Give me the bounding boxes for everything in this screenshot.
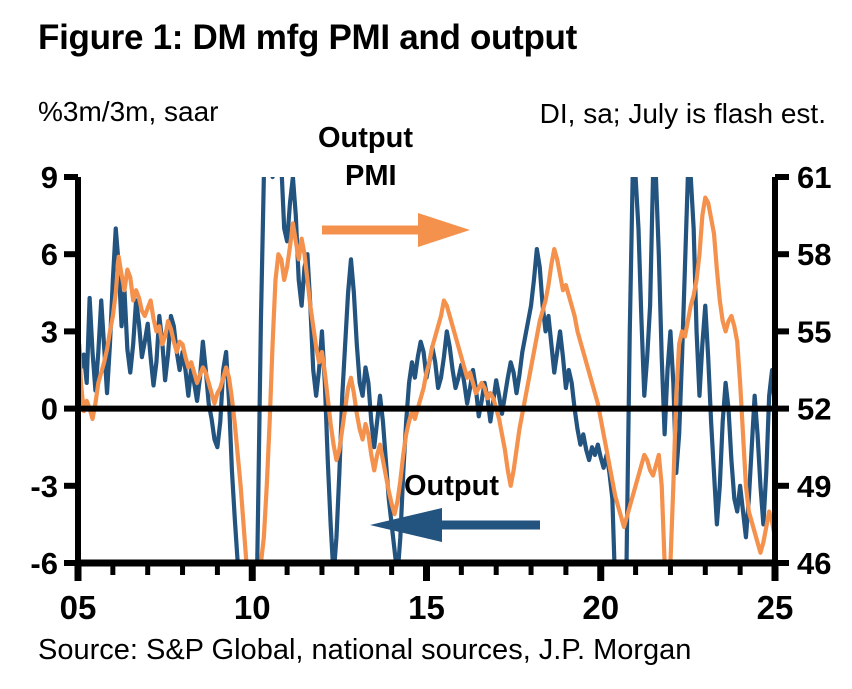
right-tick-label: 49	[797, 469, 831, 504]
left-tick-label: 9	[41, 160, 58, 195]
right-axis-unit-label: DI, sa; July is flash est.	[540, 98, 826, 130]
pmi-arrow-right	[322, 213, 470, 247]
output-annotation: Output	[404, 470, 499, 503]
right-tick-label: 52	[797, 392, 831, 427]
right-tick-label: 55	[797, 314, 831, 349]
x-tick-label: 05	[60, 589, 97, 626]
left-tick-label: 6	[41, 237, 58, 272]
left-axis-unit-label: %3m/3m, saar	[38, 96, 219, 128]
x-tick-label: 15	[408, 589, 445, 626]
right-tick-label: 58	[797, 237, 831, 272]
right-tick-label: 46	[797, 546, 831, 581]
left-tick-label: -3	[30, 469, 58, 504]
x-tick-label: 20	[582, 589, 619, 626]
pmi-annotation-line2: PMI	[345, 160, 397, 193]
pmi-annotation-line1: Output	[318, 122, 413, 155]
source-note: Source: S&P Global, national sources, J.…	[38, 634, 691, 667]
left-tick-label: -6	[30, 546, 58, 581]
right-tick-label: 61	[797, 160, 831, 195]
x-tick-label: 25	[757, 589, 794, 626]
page-title: Figure 1: DM mfg PMI and output	[38, 18, 577, 58]
left-tick-label: 0	[41, 392, 58, 427]
figure-container: Figure 1: DM mfg PMI and output %3m/3m, …	[0, 0, 852, 689]
x-tick-label: 10	[234, 589, 271, 626]
left-tick-label: 3	[41, 314, 58, 349]
